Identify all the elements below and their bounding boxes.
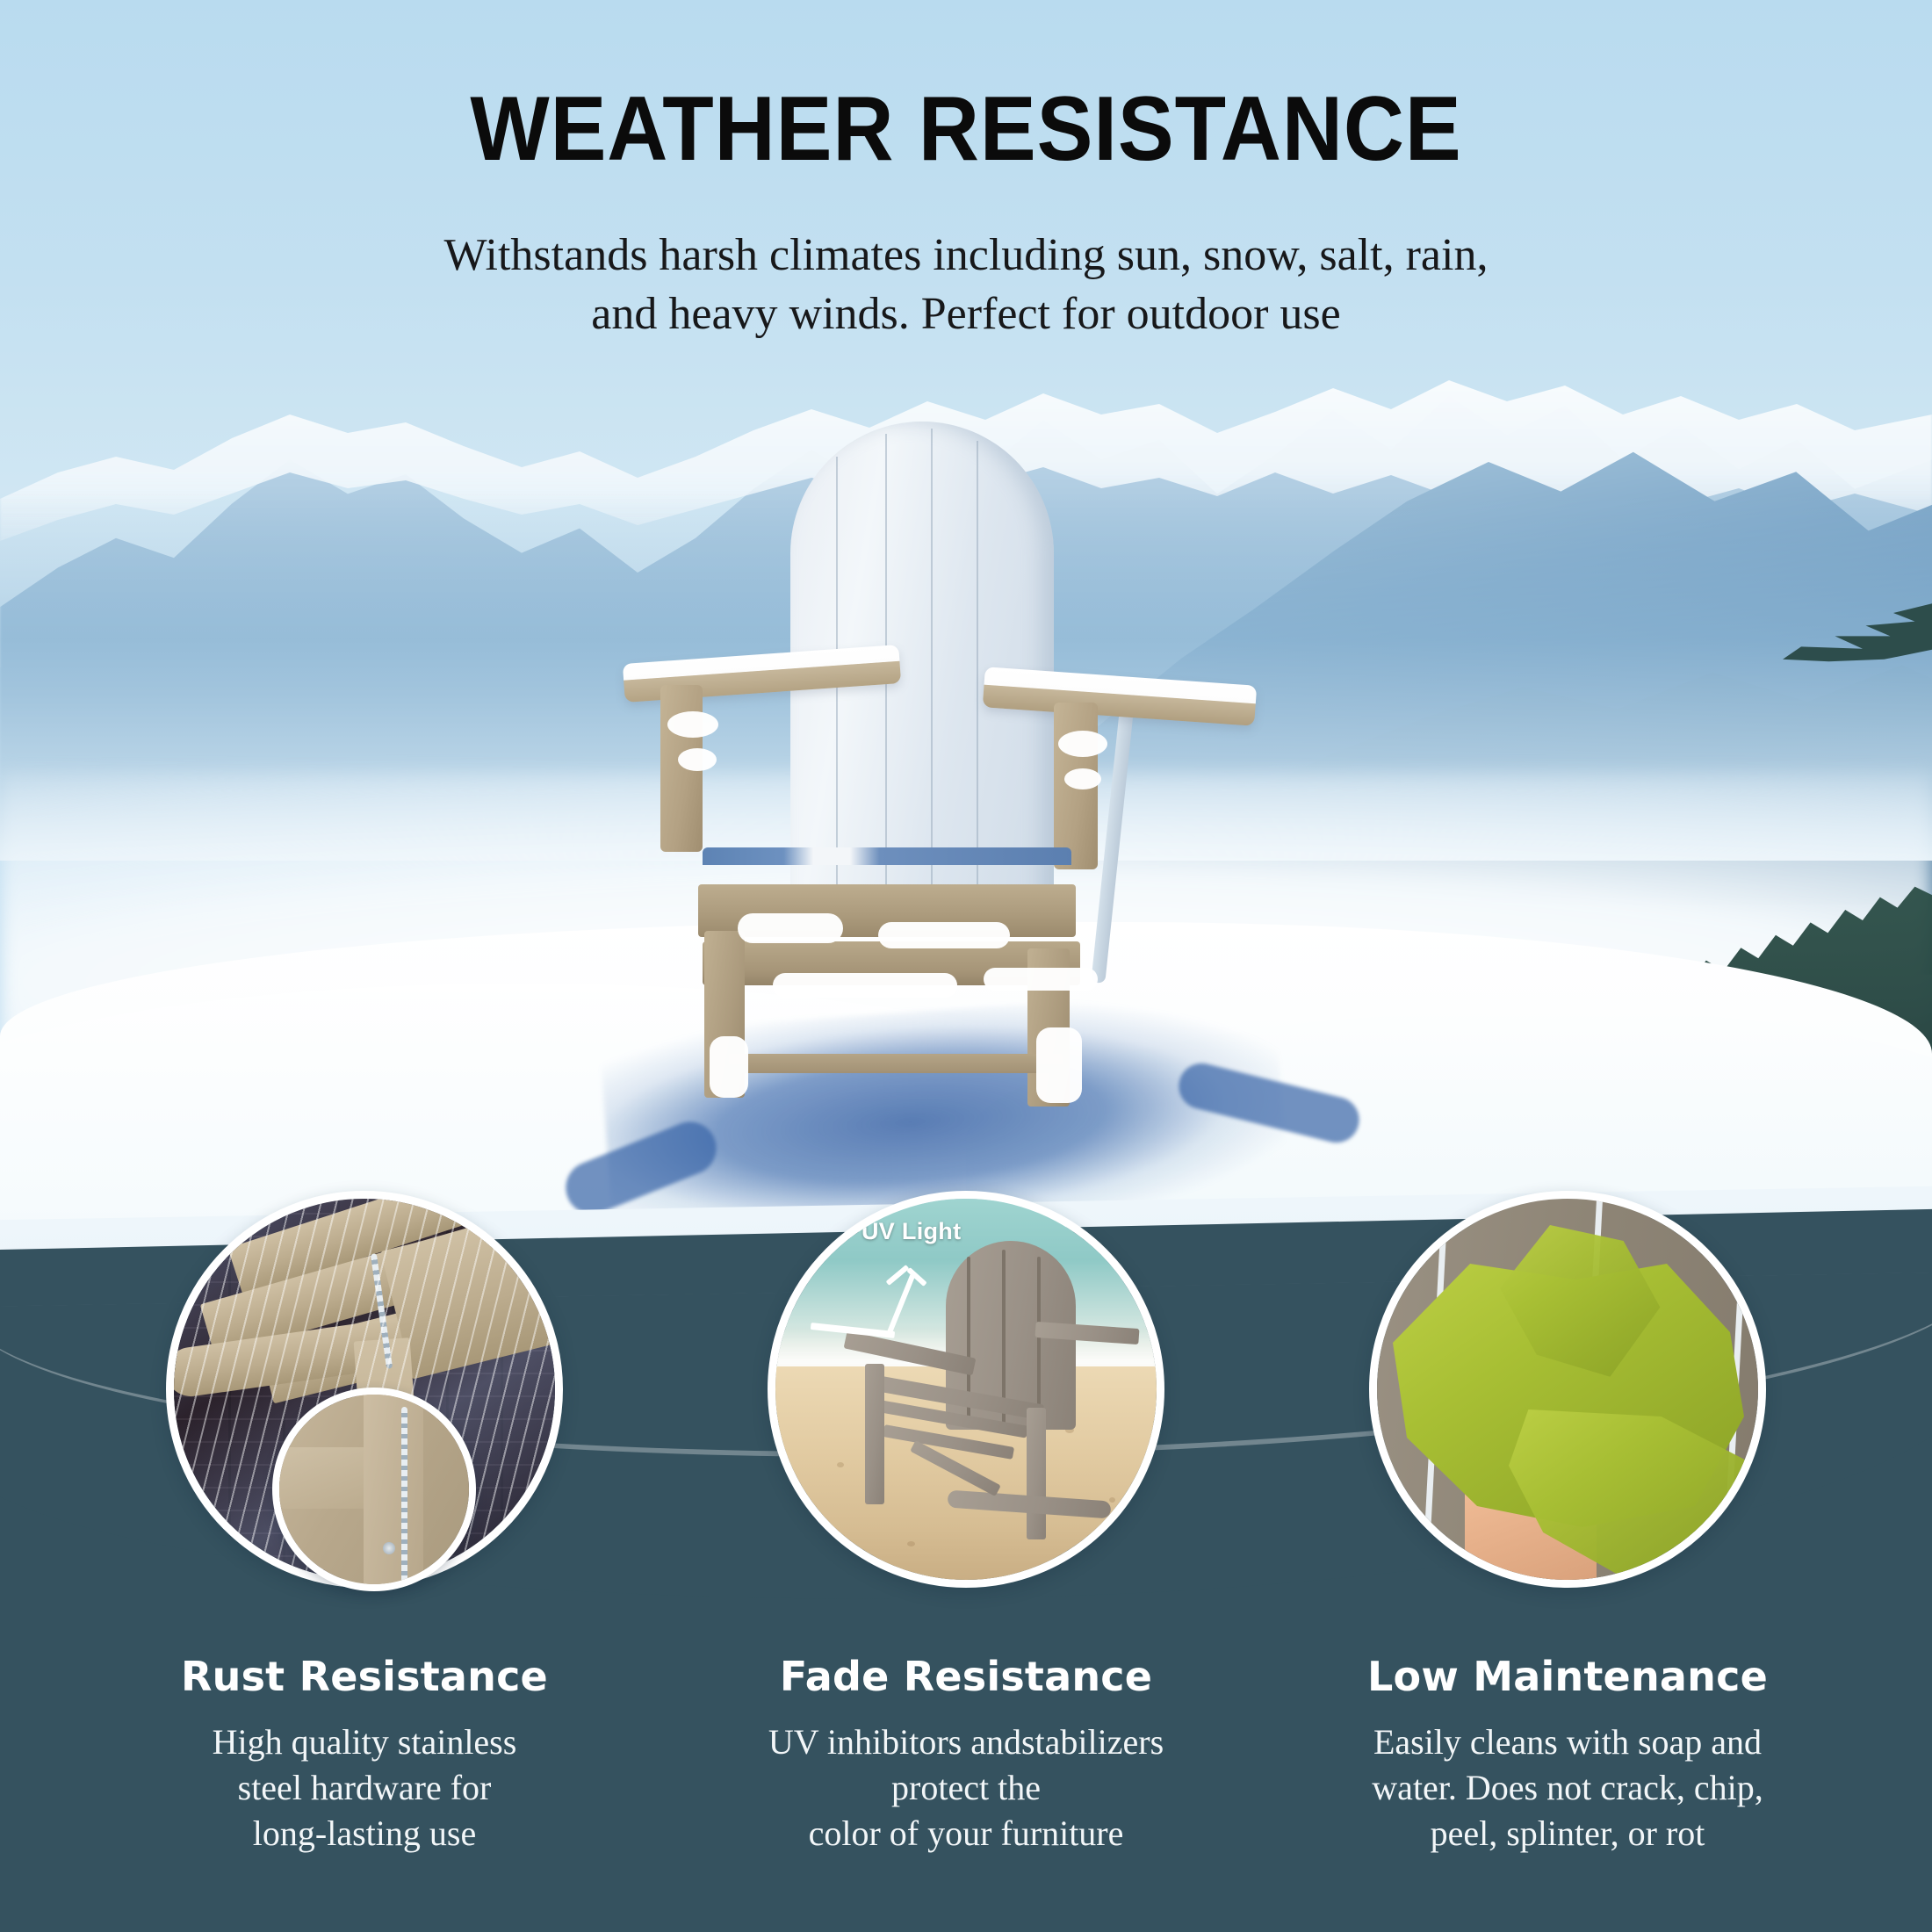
adirondack-chair-beach — [854, 1241, 1135, 1566]
feature-title-low-maintenance: Low Maintenance — [1322, 1653, 1813, 1700]
feature-body-line-2: water. Does not crack, chip, — [1372, 1768, 1763, 1807]
feature-body-line-1: Easily cleans with soap and — [1373, 1722, 1762, 1762]
beach-chair-back-slat-3 — [1037, 1257, 1041, 1424]
subtitle-line-1: Withstands harsh climates including sun,… — [281, 227, 1651, 285]
sand-speck — [837, 1462, 844, 1467]
snow-clump-2 — [678, 748, 717, 771]
chair-back-seam-4 — [977, 441, 978, 898]
page-title: WEATHER RESISTANCE — [77, 77, 1855, 182]
feature-body-low-maintenance: Easily cleans with soap and water. Does … — [1322, 1719, 1813, 1856]
uv-light-label: UV Light — [861, 1218, 961, 1245]
inset-seat-edge — [279, 1447, 376, 1509]
chain-closeup-inset — [272, 1388, 476, 1591]
chair-stretcher — [729, 1054, 1063, 1073]
snow-clump-5 — [738, 913, 843, 943]
feature-body-line-2: protect the — [891, 1768, 1041, 1807]
snow-clump-9 — [710, 1036, 748, 1098]
chair-seat-snow-band — [703, 847, 1071, 865]
snow-clump-8 — [984, 968, 1098, 991]
feature-body-rust-resistance: High quality stainless steel hardware fo… — [119, 1719, 610, 1856]
feature-body-line-2: steel hardware for — [238, 1768, 492, 1807]
feature-block-low-maintenance: Low Maintenance Easily cleans with soap … — [1322, 1653, 1813, 1856]
beach-chair-leg-back — [1027, 1408, 1046, 1539]
page-subtitle: Withstands harsh climates including sun,… — [281, 227, 1651, 343]
feature-title-rust-resistance: Rust Resistance — [119, 1653, 610, 1700]
snow-clump-10 — [1036, 1027, 1082, 1103]
feature-image-fade-resistance: UV Light — [768, 1191, 1164, 1588]
subtitle-line-2: and heavy winds. Perfect for outdoor use — [281, 285, 1651, 344]
snow-clump-3 — [1058, 731, 1107, 757]
poster-canvas: UV Light WEATHER RESISTANCE Withstands h… — [0, 0, 1932, 1932]
inset-post — [364, 1388, 423, 1591]
beach-chair-leg-front — [865, 1364, 884, 1504]
feature-body-line-1: High quality stainless — [213, 1722, 517, 1762]
snow-clump-1 — [667, 711, 718, 738]
feature-block-rust-resistance: Rust Resistance High quality stainless s… — [119, 1653, 610, 1856]
feature-body-line-3: peel, splinter, or rot — [1431, 1813, 1705, 1853]
feature-title-fade-resistance: Fade Resistance — [720, 1653, 1212, 1700]
feature-body-fade-resistance: UV inhibitors andstabilizers protect the… — [720, 1719, 1212, 1856]
snow-clump-6 — [878, 922, 1010, 948]
snow-clump-7 — [773, 973, 957, 998]
feature-body-line-3: color of your furniture — [809, 1813, 1124, 1853]
feature-image-low-maintenance — [1369, 1191, 1766, 1588]
snow-clump-4 — [1064, 768, 1101, 789]
adirondack-chair-hero — [615, 422, 1265, 1089]
feature-block-fade-resistance: Fade Resistance UV inhibitors andstabili… — [720, 1653, 1212, 1856]
inset-screw — [383, 1542, 395, 1554]
chair-back-seam-3 — [931, 429, 933, 903]
feature-body-line-3: long-lasting use — [253, 1813, 476, 1853]
feature-body-line-1: UV inhibitors andstabilizers — [768, 1722, 1164, 1762]
inset-stainless-chain — [401, 1407, 407, 1582]
